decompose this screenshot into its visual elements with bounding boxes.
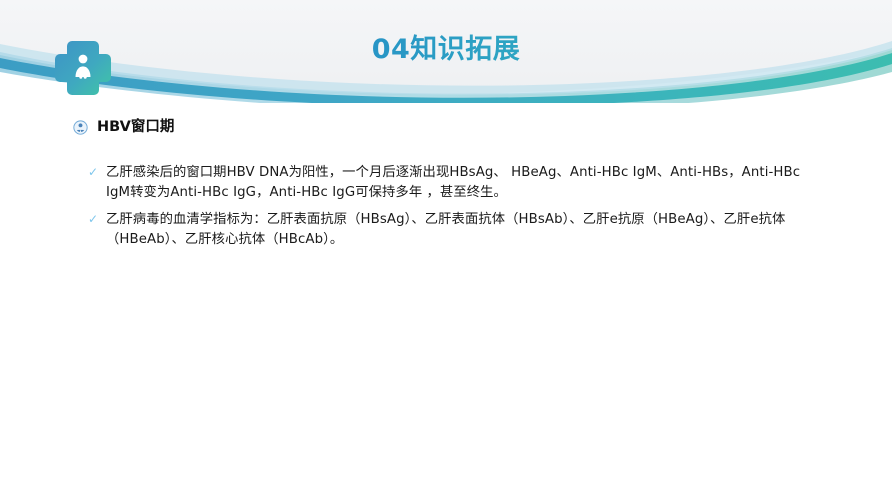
list-item: ✓ 乙肝病毒的血清学指标为：乙肝表面抗原（HBsAg）、乙肝表面抗体（HBsAb… — [88, 210, 808, 250]
circle-emblem-icon — [73, 120, 88, 135]
slide-root: 04知识拓展 HBV窗口期 ✓ 乙肝感染后的窗口期HBV DNA为阳性，一个月后… — [0, 0, 892, 503]
list-item: ✓ 乙肝感染后的窗口期HBV DNA为阳性，一个月后逐渐出现HBsAg、 HBe… — [88, 163, 808, 203]
slide-header: 04知识拓展 — [0, 0, 892, 103]
check-icon: ✓ — [88, 163, 106, 178]
section-heading: HBV窗口期 — [73, 120, 174, 135]
page-title: 04知识拓展 — [0, 27, 892, 66]
bullet-list: ✓ 乙肝感染后的窗口期HBV DNA为阳性，一个月后逐渐出现HBsAg、 HBe… — [88, 163, 808, 257]
bullet-text-2: 乙肝病毒的血清学指标为：乙肝表面抗原（HBsAg）、乙肝表面抗体（HBsAb）、… — [106, 210, 808, 250]
bullet-text-1: 乙肝感染后的窗口期HBV DNA为阳性，一个月后逐渐出现HBsAg、 HBeAg… — [106, 163, 808, 203]
section-heading-text: HBV窗口期 — [97, 120, 174, 135]
check-icon: ✓ — [88, 210, 106, 225]
slide-content: HBV窗口期 ✓ 乙肝感染后的窗口期HBV DNA为阳性，一个月后逐渐出现HBs… — [0, 103, 892, 503]
